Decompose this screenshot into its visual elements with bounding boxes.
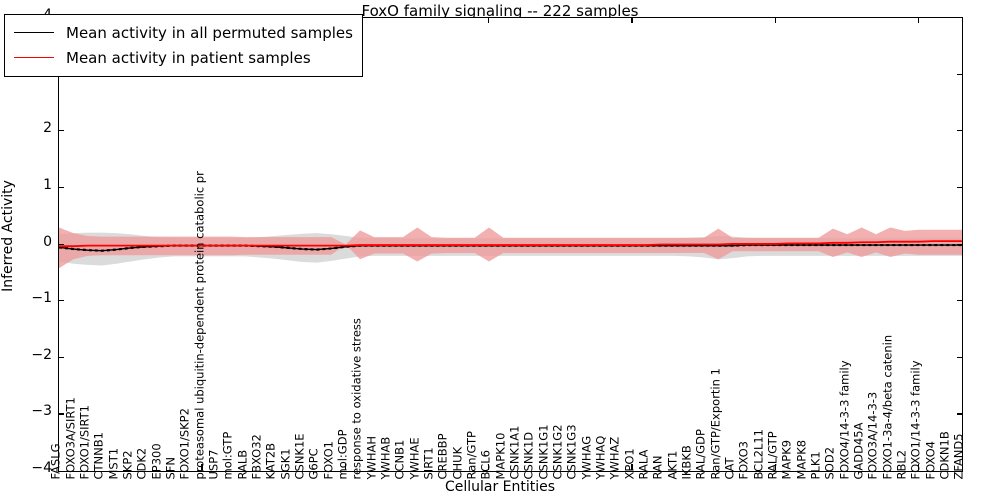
x-category-label: CSNK1A1 <box>509 426 521 480</box>
x-category-label: Ran/GTP <box>466 431 478 479</box>
x-tick-mark <box>631 17 632 23</box>
legend-swatch-permuted <box>14 32 54 33</box>
x-tick-mark <box>918 17 919 23</box>
x-category-label: CSNK1E <box>294 433 306 479</box>
x-category-label: FASLG <box>51 443 63 479</box>
y-tick-mark <box>58 244 64 245</box>
y-tick-mark <box>957 300 963 301</box>
x-category-label: CDK2 <box>137 448 149 480</box>
x-category-label: SOD2 <box>825 447 837 480</box>
x-category-label: YWHAH <box>366 436 378 480</box>
x-category-label: FOXO3 <box>739 441 751 479</box>
x-category-label: mol:GTP <box>223 432 235 480</box>
x-category-label: CTNNB1 <box>94 432 106 479</box>
legend-item-permuted: Mean activity in all permuted samples <box>14 20 353 45</box>
x-category-label: FOXO1/SIRT1 <box>79 405 91 480</box>
legend-item-patient: Mean activity in patient samples <box>14 45 353 70</box>
x-category-label: CDKN1B <box>939 431 951 479</box>
x-category-label: CSNK1G1 <box>538 424 550 479</box>
y-tick-label: 0 <box>12 235 52 249</box>
x-category-label: CHUK <box>452 447 464 480</box>
x-axis-label: Cellular Entities <box>0 479 1000 495</box>
x-category-label: MAPK8 <box>796 440 808 480</box>
x-category-label: RAN <box>653 456 665 480</box>
x-category-label: RALB <box>237 450 249 480</box>
x-category-label: CSNK1G2 <box>552 424 564 479</box>
x-category-label: YWHAE <box>409 437 421 479</box>
legend-swatch-patient <box>14 57 54 58</box>
x-category-label: RALA <box>638 450 650 480</box>
x-category-label: EP300 <box>151 443 163 479</box>
x-category-label: SIRT1 <box>423 447 435 479</box>
x-category-label: RBL2 <box>896 450 908 480</box>
y-tick-label: 1 <box>12 178 52 192</box>
y-tick-label: −4 <box>12 461 52 475</box>
y-tick-mark <box>957 187 963 188</box>
x-category-label: G6PC <box>309 448 321 479</box>
x-category-label: MST1 <box>108 448 120 480</box>
x-category-label: Ran/GTP/Exportin 1 <box>710 368 722 479</box>
x-category-label: FOXO1 <box>323 441 335 479</box>
x-category-label: BCL6 <box>481 450 493 479</box>
x-category-label: RAL/GDP <box>696 429 708 479</box>
x-category-label: response to oxidative stress <box>352 318 364 479</box>
x-category-label: CREBBP <box>438 434 450 480</box>
x-category-label: YWHAG <box>581 436 593 480</box>
x-category-label: XPO1 <box>624 448 636 479</box>
x-category-label: SFN <box>165 457 177 480</box>
y-tick-mark <box>957 413 963 414</box>
x-category-label: MAPK9 <box>782 440 794 480</box>
x-category-label: PLK1 <box>810 451 822 479</box>
chart-figure: FoxO family signaling -- 222 samples −4−… <box>0 0 1000 500</box>
x-category-label: GADD45A <box>853 423 865 480</box>
x-category-label: CCNB1 <box>395 440 407 480</box>
x-category-label: FOXO4/14-3-3 family <box>839 360 851 479</box>
x-category-label: YWHAQ <box>595 436 607 480</box>
x-category-label: FOXO3A/14-3-3 <box>868 392 880 480</box>
x-category-label: FOXO1/SKP2 <box>180 408 192 479</box>
x-category-label: AKT1 <box>667 451 679 480</box>
x-category-label: FBXO32 <box>251 434 263 479</box>
x-tick-mark <box>775 17 776 23</box>
x-category-label: CAT <box>724 457 736 479</box>
x-category-label: FOXO1-3a-4/beta catenin <box>882 335 894 480</box>
y-tick-mark <box>957 357 963 358</box>
y-tick-mark <box>957 130 963 131</box>
y-tick-label: 2 <box>12 121 52 135</box>
x-category-label: proteasomal ubiquitin-dependent protein … <box>194 171 206 479</box>
x-category-label: FOXO1/14-3-3 family <box>911 360 923 479</box>
x-category-label: mol:GDP <box>337 429 349 479</box>
x-category-label: YWHAB <box>380 437 392 480</box>
x-category-label: MAPK10 <box>495 433 507 480</box>
x-category-label: YWHAZ <box>610 437 622 480</box>
x-tick-mark <box>488 17 489 23</box>
y-tick-mark <box>957 74 963 75</box>
x-category-label: RAL/GTP <box>767 431 779 479</box>
chart-legend: Mean activity in all permuted samples Me… <box>4 14 363 77</box>
x-category-label: BCL2L11 <box>753 429 765 479</box>
y-tick-label: −1 <box>12 291 52 305</box>
x-category-label: SGK1 <box>280 448 292 479</box>
x-category-label: CSNK1G3 <box>567 424 579 479</box>
y-tick-mark <box>58 187 64 188</box>
x-category-label: USP7 <box>208 450 220 480</box>
x-category-label: KAT2B <box>266 443 278 480</box>
y-tick-mark <box>58 357 64 358</box>
legend-label-permuted: Mean activity in all permuted samples <box>66 24 353 42</box>
y-tick-mark <box>58 300 64 301</box>
legend-label-patient: Mean activity in patient samples <box>66 49 311 67</box>
x-category-label: SKP2 <box>122 450 134 479</box>
x-category-label: FOXO4 <box>925 441 937 479</box>
x-category-label: CSNK1D <box>524 432 536 480</box>
y-tick-label: −2 <box>12 348 52 362</box>
y-tick-mark <box>58 130 64 131</box>
y-tick-label: −3 <box>12 404 52 418</box>
x-category-label: FOXO3A/SIRT1 <box>65 397 77 479</box>
y-tick-mark <box>957 244 963 245</box>
x-category-label: ZFAND5 <box>954 433 966 479</box>
x-category-label: IKBKB <box>681 445 693 479</box>
